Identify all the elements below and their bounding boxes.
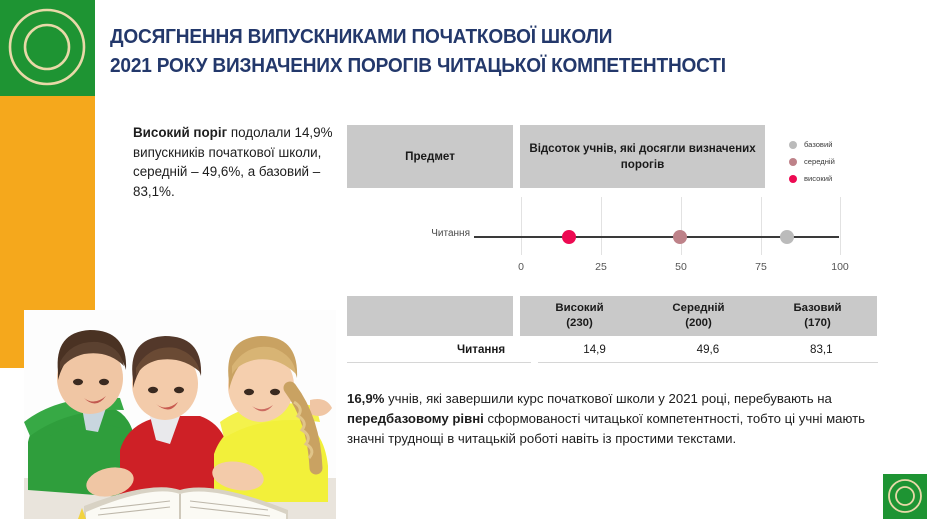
left-summary-text: Високий поріг подолали 14,9% випускників… <box>133 123 333 202</box>
table-cell-label: Читання <box>347 336 531 363</box>
table-header-serednii: Середній (200) <box>639 296 758 336</box>
legend-item-bazovyi: базовий <box>789 137 885 152</box>
data-point-bazovyi <box>780 230 794 244</box>
concentric-rings-logo-icon <box>883 474 927 519</box>
table-gap <box>513 296 520 336</box>
chart-legend: базовий середній високий <box>789 137 885 188</box>
gridline-0 <box>521 197 522 255</box>
legend-item-vysokyi: високий <box>789 171 885 186</box>
gridline-75 <box>761 197 762 255</box>
footer-logo <box>883 474 927 519</box>
table-header-bazovyi: Базовий (170) <box>758 296 877 336</box>
table-header-title: Середній <box>672 301 724 316</box>
bottom-summary-seg2: учнів, які завершили курс початкової шко… <box>384 391 831 406</box>
results-table: Високий (230) Середній (200) Базовий (17… <box>347 296 878 363</box>
x-tick-50: 50 <box>675 261 687 273</box>
legend-swatch-icon <box>789 141 797 149</box>
page-title: ДОСЯГНЕННЯ ВИПУСКНИКАМИ ПОЧАТКОВОЇ ШКОЛИ… <box>110 22 854 80</box>
table-header-title: Високий <box>555 301 603 316</box>
children-reading-photo <box>24 310 336 519</box>
table-header-row: Високий (230) Середній (200) Базовий (17… <box>347 296 878 336</box>
legend-swatch-icon <box>789 175 797 183</box>
concentric-rings-logo-icon <box>0 0 95 96</box>
x-tick-0: 0 <box>518 261 524 273</box>
header-percent-label: Відсоток учнів, які досягли визначених п… <box>520 141 765 172</box>
x-tick-75: 75 <box>755 261 767 273</box>
legend-item-serednii: середній <box>789 154 885 169</box>
gridline-100 <box>840 197 841 255</box>
header-subject-box: Предмет <box>347 125 513 188</box>
slide-root: ДОСЯГНЕННЯ ВИПУСКНИКАМИ ПОЧАТКОВОЇ ШКОЛИ… <box>0 0 927 519</box>
table-header-sub: (170) <box>804 316 831 331</box>
header-subject-label: Предмет <box>405 149 455 165</box>
bottom-summary-highlight: передбазовому рівні <box>347 411 484 426</box>
legend-label: базовий <box>804 140 832 149</box>
table-cell-bazovyi: 83,1 <box>765 336 878 363</box>
dot-plot-chart: Читання 0 25 50 75 100 <box>420 195 890 285</box>
x-tick-25: 25 <box>595 261 607 273</box>
table-header-title: Базовий <box>793 301 841 316</box>
header-percent-box: Відсоток учнів, які досягли визначених п… <box>520 125 765 188</box>
table-header-sub: (200) <box>685 316 712 331</box>
table-header-vysokyi: Високий (230) <box>520 296 639 336</box>
gridline-25 <box>601 197 602 255</box>
bottom-summary-text: 16,9% учнів, які завершили курс початков… <box>347 389 895 449</box>
bottom-summary-pct: 16,9% <box>347 391 384 406</box>
legend-label: високий <box>804 174 832 183</box>
table-header-sub: (230) <box>566 316 593 331</box>
legend-label: середній <box>804 157 835 166</box>
table-row: Читання 14,9 49,6 83,1 <box>347 336 878 363</box>
category-label-chytannia: Читання <box>431 228 470 239</box>
children-reading-illustration <box>24 310 336 519</box>
x-tick-100: 100 <box>831 261 849 273</box>
legend-swatch-icon <box>789 158 797 166</box>
data-point-vysokyi <box>562 230 576 244</box>
table-header-blank <box>347 296 513 336</box>
table-gap <box>531 336 538 363</box>
left-summary-lead: Високий поріг <box>133 125 227 140</box>
data-point-serednii <box>673 230 687 244</box>
brand-logo-block <box>0 0 95 96</box>
table-cell-serednii: 49,6 <box>651 336 764 363</box>
gridline-50 <box>681 197 682 255</box>
table-cell-vysokyi: 14,9 <box>538 336 651 363</box>
